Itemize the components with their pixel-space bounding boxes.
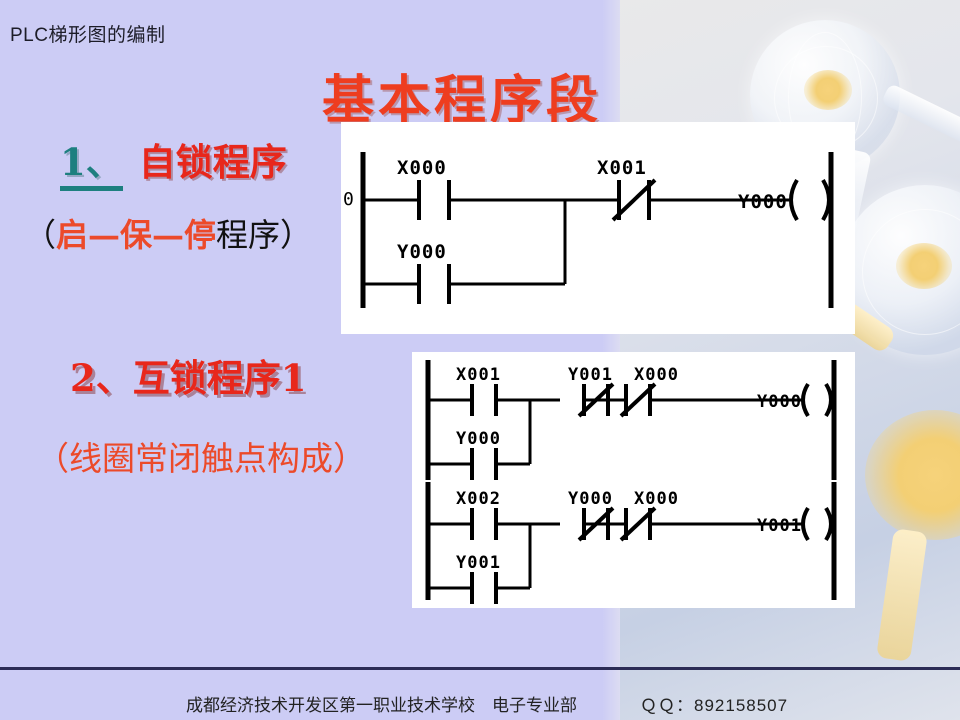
contact-label-y000: Y000: [397, 241, 447, 263]
contact-label-x000: X000: [397, 157, 447, 179]
coil-label-y000: Y000: [738, 191, 788, 213]
coil-label-y000: Y000: [757, 392, 802, 412]
contact-label-x001: X001: [456, 365, 501, 385]
section-1-subtitle-rest: 程序: [216, 216, 280, 254]
contact-label-y001: Y001: [456, 553, 501, 573]
contact-label-x002: X002: [456, 489, 501, 509]
ladder-diagram-interlock: X001 Y000 Y001 X000 Y000 X002 Y001: [412, 352, 855, 608]
section-1-title: 自锁程序: [139, 140, 287, 184]
ladder-2-svg: X001 Y000 Y001 X000 Y000 X002 Y001: [412, 352, 855, 608]
footer-divider: [0, 667, 960, 670]
section-1-subtitle: （启—保—停程序）: [24, 210, 312, 256]
section-1-heading: 1、自锁程序: [60, 132, 287, 186]
ladder-diagram-self-latch: 0 X000 Y000 X001 Y000: [341, 122, 855, 334]
coil-arc-left: [803, 384, 808, 416]
coil-label-y001: Y001: [757, 516, 802, 536]
coil-arc-left: [791, 180, 797, 220]
coil-arc-right: [823, 180, 829, 220]
footer-department: 电子专业部: [492, 691, 577, 716]
section-1-subtitle-open: （: [24, 216, 56, 254]
contact-label-x000: X000: [634, 489, 679, 509]
contact-label-x001: X001: [597, 157, 647, 179]
section-1-number: 1、: [60, 140, 123, 191]
section-1-subtitle-highlight: 启—保—停: [56, 216, 216, 254]
contact-label-y000: Y000: [568, 489, 613, 509]
ladder-1-svg: 0 X000 Y000 X001 Y000: [341, 122, 855, 334]
section-2-heading: 2、互锁程序1: [70, 348, 307, 402]
coil-arc-right: [826, 508, 831, 540]
footer-qq-number: ＱＱ：892158507: [640, 691, 788, 716]
slide-header-label: PLC梯形图的编制: [10, 20, 165, 47]
section-2-subtitle: （线圈常闭触点构成）: [36, 432, 366, 480]
coil-arc-left: [803, 508, 808, 540]
contact-label-y000: Y000: [456, 429, 501, 449]
footer-school-name: 成都经济技术开发区第一职业技术学校: [186, 691, 475, 716]
contact-label-x000: X000: [634, 365, 679, 385]
rung-address: 0: [343, 189, 354, 210]
section-1-subtitle-close: ）: [280, 216, 312, 254]
coil-arc-right: [826, 384, 831, 416]
contact-label-y001: Y001: [568, 365, 613, 385]
